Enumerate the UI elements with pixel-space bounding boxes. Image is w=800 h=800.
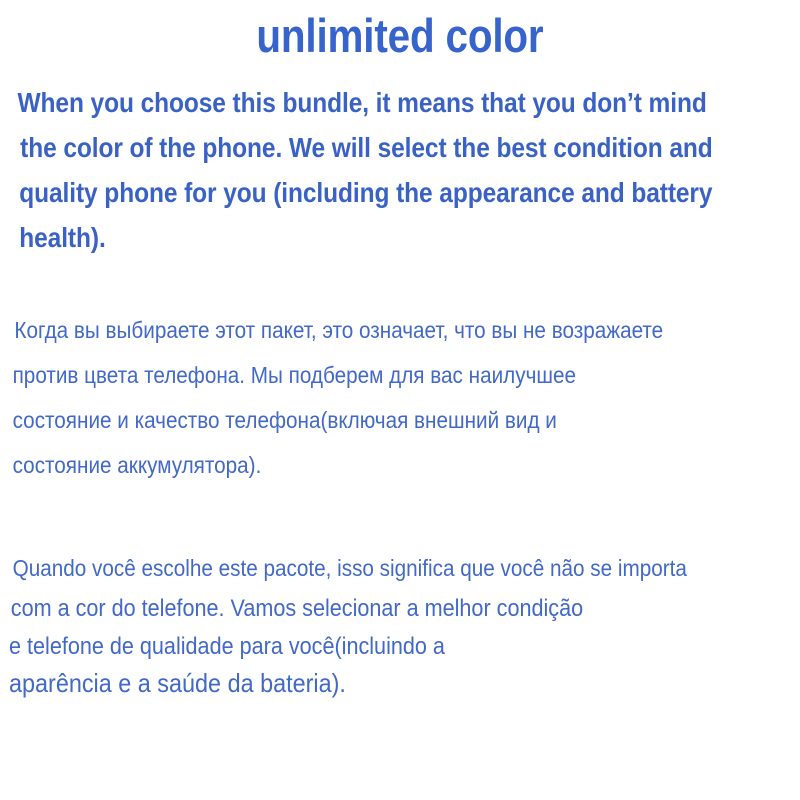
english-description-block: When you choose this bundle, it means th… xyxy=(0,80,800,260)
product-description-page: unlimited color When you choose this bun… xyxy=(0,0,800,800)
english-line-1: When you choose this bundle, it means th… xyxy=(0,80,700,125)
russian-description-block: Когда вы выбираете этот пакет, это означ… xyxy=(0,308,800,488)
russian-line-1: Когда вы выбираете этот пакет, это означ… xyxy=(0,308,720,353)
russian-line-2: против цвета телефона. Мы подберем для в… xyxy=(0,353,720,398)
portuguese-line-1: Quando você escolhe este pacote, isso si… xyxy=(0,548,720,588)
page-title-text: unlimited color xyxy=(256,8,543,64)
portuguese-line-2: com a cor do telefone. Vamos selecionar … xyxy=(0,588,720,629)
russian-line-4: состояние аккумулятора). xyxy=(0,443,720,488)
portuguese-description-block: Quando você escolhe este pacote, isso si… xyxy=(0,548,800,701)
portuguese-line-4: aparência e a saúde da bateria). xyxy=(0,665,720,701)
english-line-3: quality phone for you (including the app… xyxy=(0,170,700,215)
portuguese-line-3: e telefone de qualidade para você(inclui… xyxy=(0,629,720,665)
english-line-2: the color of the phone. We will select t… xyxy=(0,125,700,170)
russian-line-3: состояние и качество телефона(включая вн… xyxy=(0,398,720,443)
page-title: unlimited color xyxy=(0,8,800,64)
english-line-4: health). xyxy=(0,215,700,260)
